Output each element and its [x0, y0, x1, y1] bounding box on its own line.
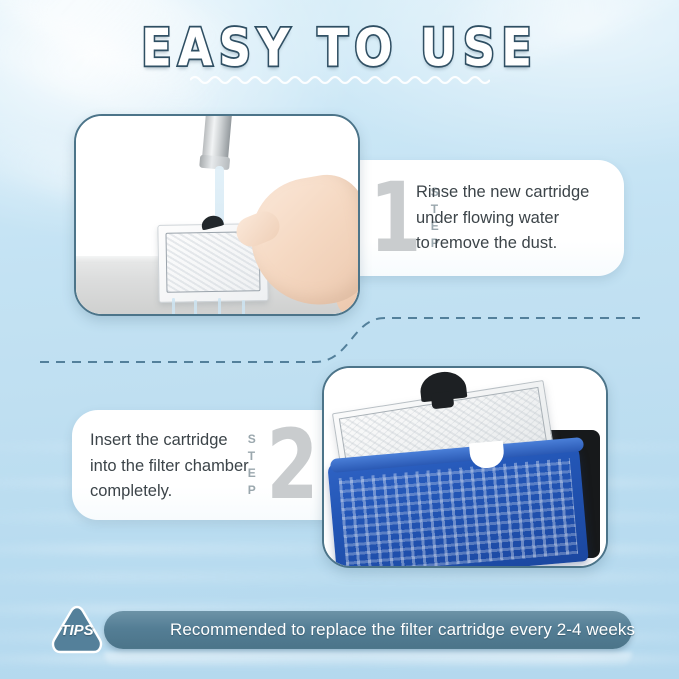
step-2-photo — [322, 366, 608, 568]
step-2-label: S T E P — [248, 431, 257, 499]
step-1-number: 1 — [369, 179, 421, 258]
faucet-icon — [202, 114, 232, 161]
step-1-description: Rinse the new cartridge under flowing wa… — [416, 180, 589, 257]
photo-cartridge-in-chamber — [324, 368, 606, 566]
water-drip — [242, 300, 245, 316]
tips-reflection — [104, 652, 632, 668]
step-label-letter: S — [248, 431, 257, 448]
water-drip — [194, 300, 197, 316]
page-title-text: EASY TO USE — [141, 22, 538, 77]
tips-text: Recommended to replace the filter cartri… — [104, 620, 635, 640]
step-2-line: into the filter chamber — [90, 454, 249, 480]
step-2-number: 2 — [267, 426, 319, 505]
water-drip — [172, 298, 175, 316]
step-label-letter: E — [248, 465, 257, 482]
step-2-marker: S T E P 2 — [248, 410, 326, 520]
infographic-canvas: EASY TO USE 1 S T E P Rinse the new cart… — [0, 0, 679, 679]
step-2-description: Insert the cartridge into the filter cha… — [90, 428, 249, 505]
tips-badge-text: TIPS — [48, 622, 106, 639]
whale-tail-tab-icon — [419, 370, 468, 403]
step-label-letter: T — [248, 448, 257, 465]
step-1-photo — [74, 114, 360, 316]
step-1-text-card: 1 S T E P Rinse the new cartridge under … — [352, 160, 624, 276]
step-2-line: completely. — [90, 479, 249, 505]
photo-rinsing-cartridge — [76, 116, 358, 314]
wave-divider-icon — [0, 72, 679, 86]
water-drip — [218, 298, 221, 316]
step-1-line: to remove the dust. — [416, 231, 589, 257]
tips-badge-icon: TIPS — [48, 604, 106, 656]
page-title: EASY TO USE — [0, 22, 679, 68]
step-2-line: Insert the cartridge — [90, 428, 249, 454]
tips-banner: Recommended to replace the filter cartri… — [48, 608, 632, 652]
step-1-line: under flowing water — [416, 206, 589, 232]
step-label-letter: P — [248, 482, 257, 499]
tips-bar: Recommended to replace the filter cartri… — [104, 611, 632, 649]
step-2-text-card: Insert the cartridge into the filter cha… — [72, 410, 332, 520]
step-1-line: Rinse the new cartridge — [416, 180, 589, 206]
